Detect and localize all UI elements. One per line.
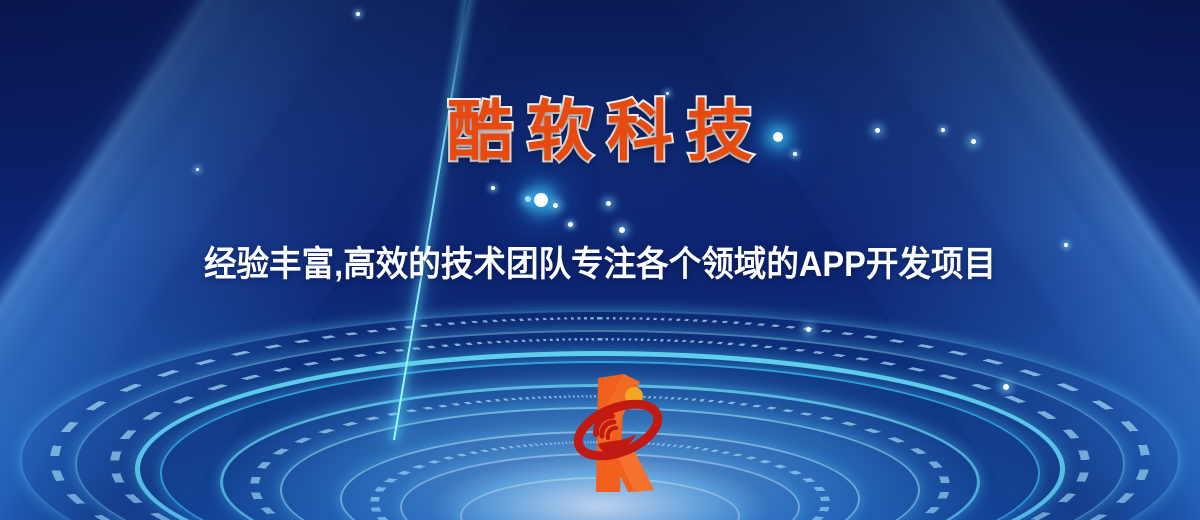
glow-dot xyxy=(525,196,531,202)
glow-dot xyxy=(568,222,573,227)
glow-dot xyxy=(619,227,625,233)
k-letterform xyxy=(596,374,654,492)
glow-dot xyxy=(806,327,811,332)
glow-dot xyxy=(534,193,548,207)
glow-dot xyxy=(196,168,199,171)
page-title: 酷软科技 xyxy=(0,98,1200,164)
glow-dot xyxy=(1003,384,1009,390)
glow-dot xyxy=(491,186,495,190)
kuruan-k-logo xyxy=(562,360,682,510)
glow-dot xyxy=(553,203,558,208)
subtitle: 经验丰富,高效的技术团队专注各个领域的APP开发项目 xyxy=(42,246,1158,285)
glow-dot xyxy=(606,201,611,206)
promo-banner: 酷软科技 经验丰富,高效的技术团队专注各个领域的APP开发项目 xyxy=(0,0,1200,520)
glow-dot xyxy=(356,12,360,16)
brand-title-text: 酷软科技 xyxy=(433,98,767,164)
